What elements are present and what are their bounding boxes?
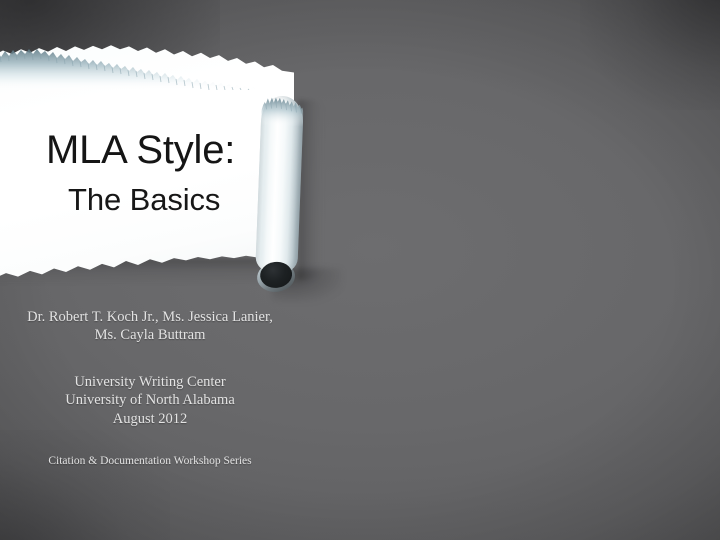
org-line-3: August 2012 (113, 411, 188, 427)
byline-block: Dr. Robert T. Koch Jr., Ms. Jessica Lani… (0, 308, 300, 469)
authors-text: Dr. Robert T. Koch Jr., Ms. Jessica Lani… (0, 308, 300, 345)
organization-text: University Writing Center University of … (0, 373, 300, 428)
authors-line-2: Ms. Cayla Buttram (95, 327, 206, 343)
title-block: MLA Style: The Basics (46, 130, 235, 215)
page-title: MLA Style: (46, 130, 235, 170)
presentation-slide: MLA Style: The Basics Dr. Robert T. Koch… (0, 0, 720, 540)
paper-curl (255, 95, 304, 274)
workshop-series-text: Citation & Documentation Workshop Series (0, 455, 300, 469)
page-subtitle: The Basics (68, 184, 235, 215)
org-line-1: University Writing Center (74, 374, 225, 390)
background-corner-shadow-top-right (580, 0, 720, 110)
authors-line-1: Dr. Robert T. Koch Jr., Ms. Jessica Lani… (27, 309, 273, 325)
curl-top-fringe-icon (261, 91, 304, 127)
org-line-2: University of North Alabama (65, 392, 235, 408)
